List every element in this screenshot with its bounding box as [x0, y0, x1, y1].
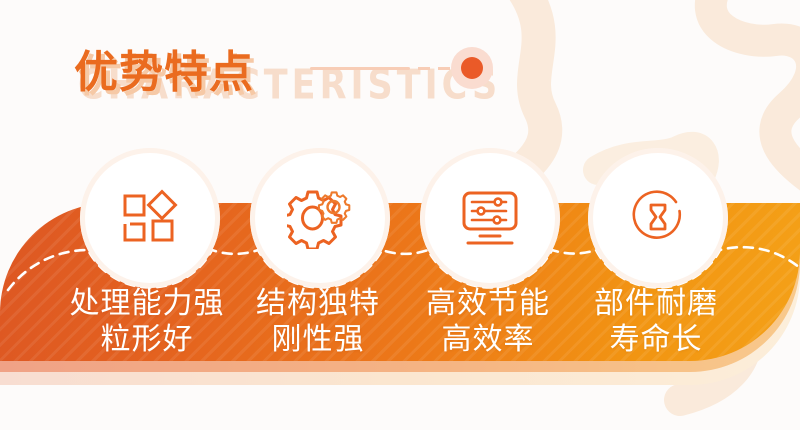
- advantages-banner: CHARACTERISTICS 优势特点 优势特点: [0, 0, 800, 430]
- shapes-grid-icon: [119, 187, 181, 249]
- feature-circle-3: [425, 153, 555, 283]
- settings-monitor-icon: [459, 189, 521, 247]
- feature-caption-3: 高效节能 高效率: [398, 286, 578, 358]
- feature-caption-2: 结构独特 刚性强: [228, 286, 408, 358]
- feature-circle-2: [255, 153, 385, 283]
- feature-circle-1: [85, 153, 215, 283]
- feature-caption-1: 处理能力强 粒形好: [57, 286, 237, 358]
- gears-icon: [287, 187, 353, 249]
- feature-circle-4: [593, 153, 723, 283]
- hourglass-icon: [629, 189, 687, 247]
- feature-caption-4: 部件耐磨 寿命长: [566, 286, 746, 358]
